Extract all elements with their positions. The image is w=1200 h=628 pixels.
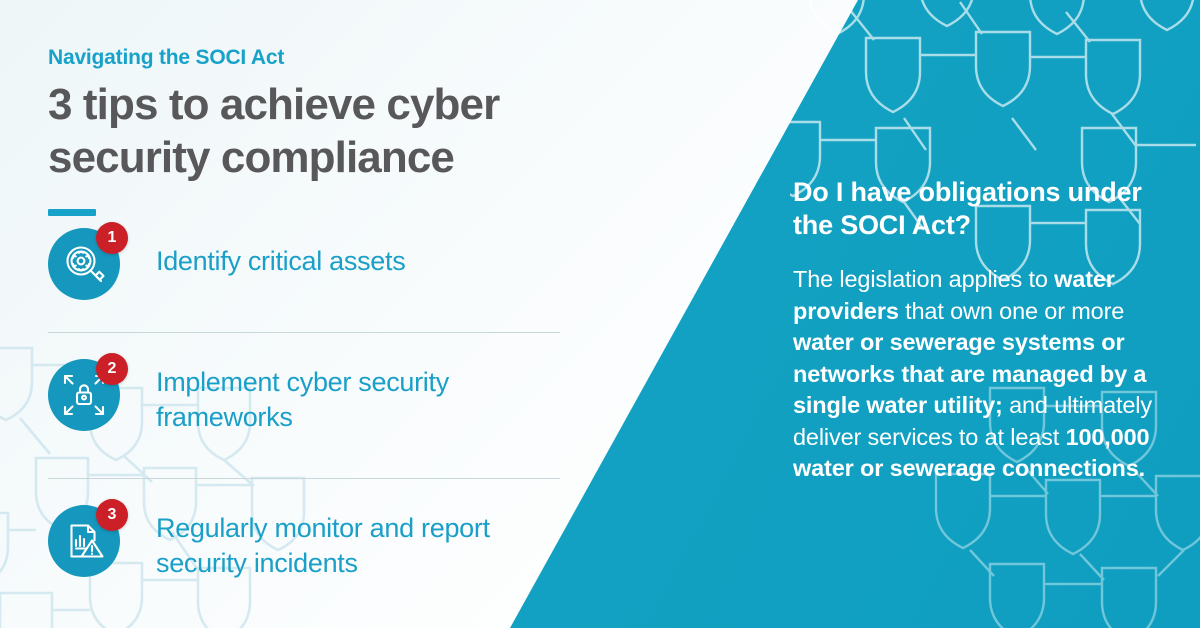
list-item[interactable]: 2 Implement cyber security frameworks: [48, 359, 568, 474]
tip-icon-wrapper: 2: [48, 359, 126, 437]
list-item[interactable]: 1 Identify critical assets: [48, 228, 568, 332]
left-header-block: Navigating the SOCI Act 3 tips to achiev…: [48, 46, 688, 216]
page-title: 3 tips to achieve cyber security complia…: [48, 78, 648, 184]
list-divider: [48, 332, 560, 333]
tip-number-badge: 3: [96, 499, 128, 531]
tip-label: Identify critical assets: [126, 228, 405, 279]
tip-number-badge: 2: [96, 353, 128, 385]
body-text: that own one or more: [899, 298, 1124, 324]
tip-icon-wrapper: 3: [48, 505, 126, 583]
list-item[interactable]: 3 Regularly monitor and report security …: [48, 505, 568, 615]
tip-number-badge: 1: [96, 222, 128, 254]
right-panel-content: Do I have obligations under the SOCI Act…: [793, 176, 1163, 485]
infographic-canvas: Navigating the SOCI Act 3 tips to achiev…: [0, 0, 1200, 628]
body-text: The legislation applies to: [793, 266, 1054, 292]
tip-label: Implement cyber security frameworks: [126, 359, 556, 435]
accent-bar: [48, 209, 96, 216]
list-divider: [48, 478, 560, 479]
right-panel-heading: Do I have obligations under the SOCI Act…: [793, 176, 1163, 242]
right-panel-body: The legislation applies to water provide…: [793, 264, 1163, 485]
eyebrow-text: Navigating the SOCI Act: [48, 46, 688, 70]
tips-list: 1 Identify critical assets: [48, 228, 568, 615]
tip-icon-wrapper: 1: [48, 228, 126, 306]
tip-label: Regularly monitor and report security in…: [126, 505, 556, 581]
